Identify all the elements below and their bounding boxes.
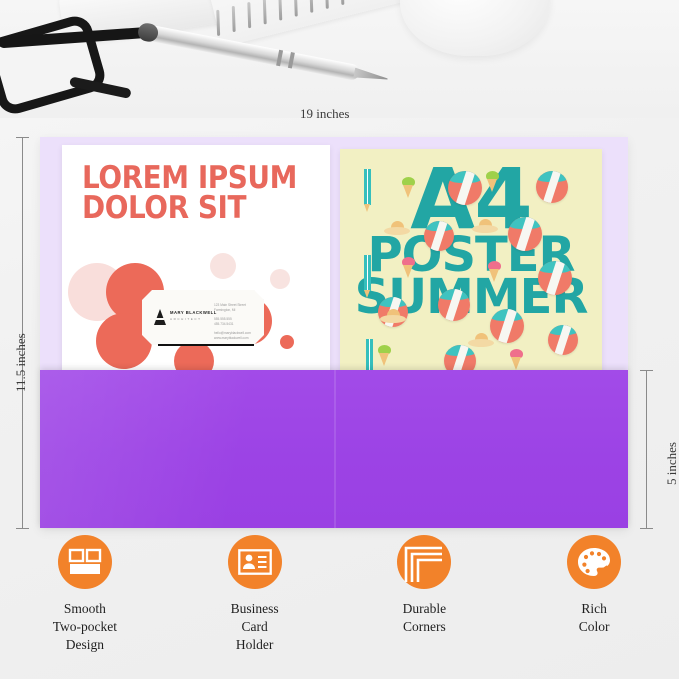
beach-ball-decor — [548, 325, 578, 355]
id-card-glyph — [238, 549, 272, 575]
beach-ball-decor — [490, 309, 524, 343]
spiral-ring — [325, 0, 329, 9]
pencil-decor — [364, 169, 371, 205]
product-image: 19 inches 11.5 inches 5 inches LOREM IPS… — [0, 0, 679, 679]
feature-label-line: Corners — [403, 619, 446, 634]
business-card-shadow-edge — [158, 344, 254, 346]
spiral-ring — [232, 6, 236, 32]
feature-label-line: Color — [579, 619, 610, 634]
pocket-dimension-label: 5 inches — [664, 442, 679, 485]
pocket-dim-cap-bottom — [640, 528, 653, 529]
beach-ball-decor — [424, 221, 454, 251]
folder-pocket — [40, 370, 628, 528]
feature-item-durable-corners: DurableCorners — [340, 535, 510, 679]
eyeglasses-arm-second — [69, 76, 132, 99]
card-website: www.maryblackwell.com — [214, 336, 251, 341]
business-card-icon — [228, 535, 282, 589]
feature-label-line: Rich — [581, 601, 607, 616]
feature-label: SmoothTwo-pocketDesign — [53, 600, 117, 653]
decor-circle — [280, 335, 294, 349]
beach-ball-decor — [438, 289, 470, 321]
beach-ball-decor — [448, 171, 482, 205]
pen-tip — [353, 68, 388, 84]
sun-hat-decor — [468, 333, 494, 346]
sun-hat-decor — [472, 219, 498, 232]
feature-label: BusinessCardHolder — [231, 600, 279, 653]
feature-list: SmoothTwo-pocketDesign BusinessCardHolde… — [0, 535, 679, 679]
durable-corner-icon — [397, 535, 451, 589]
palette-icon — [567, 535, 621, 589]
pencil-decor — [364, 255, 371, 291]
pocket-dim-cap-top — [640, 370, 653, 371]
beach-ball-decor — [508, 217, 542, 251]
lorem-line-2: DOLOR SIT — [82, 190, 246, 226]
spiral-ring — [278, 0, 282, 20]
decor-circle — [210, 253, 236, 279]
paint-palette-glyph — [576, 546, 612, 578]
folder-product: LOREM IPSUM DOLOR SIT A4 POSTER SUMMER — [40, 137, 628, 528]
spiral-ring — [340, 0, 344, 5]
feature-item-two-pocket: SmoothTwo-pocketDesign — [0, 535, 170, 679]
card-name: MARY BLACKWELL — [170, 310, 217, 315]
two-pocket-glyph — [68, 548, 102, 576]
beach-ball-decor — [536, 171, 568, 203]
feature-label-line: Holder — [236, 637, 274, 652]
decor-circle — [270, 269, 290, 289]
white-mouse-object — [400, 0, 550, 56]
beach-ball-decor — [538, 261, 572, 295]
card-role: ARCHITECT — [170, 317, 202, 321]
height-dimension-label: 11.5 inches — [13, 333, 29, 392]
feature-item-business-card: BusinessCardHolder — [170, 535, 340, 679]
two-pocket-icon — [58, 535, 112, 589]
sun-hat-decor — [384, 221, 410, 234]
feature-label-line: Durable — [403, 601, 446, 616]
feature-label-line: Design — [66, 637, 104, 652]
spiral-ring — [216, 10, 220, 36]
architect-logo-icon — [154, 309, 166, 325]
width-dimension-label: 19 inches — [300, 106, 349, 122]
business-card: MARY BLACKWELL ARCHITECT 123 Main Street… — [142, 290, 264, 345]
spiral-ring — [247, 2, 251, 28]
spiral-ring — [294, 0, 298, 17]
pocket-dimension-line — [646, 370, 647, 528]
sun-hat-decor — [380, 309, 406, 322]
feature-label-line: Business — [231, 601, 279, 616]
corner-layers-glyph — [404, 542, 444, 582]
spiral-ring — [309, 0, 313, 13]
feature-label-line: Two-pocket — [53, 619, 117, 634]
height-dim-cap-bottom — [16, 528, 29, 529]
height-dim-cap-top — [16, 137, 29, 138]
right-inserted-poster: A4 POSTER SUMMER — [340, 149, 602, 377]
eyeglasses-arm — [0, 27, 149, 48]
feature-label-line: Smooth — [64, 601, 106, 616]
card-contact-info: 123 Main Street Street Farmington, MI 55… — [214, 303, 251, 342]
pocket-center-seam — [334, 370, 336, 528]
notebook-spiral-icon — [214, 0, 367, 40]
feature-label: DurableCorners — [403, 600, 446, 636]
spiral-ring — [263, 0, 267, 24]
feature-label: RichColor — [579, 600, 610, 636]
lorem-heading: LOREM IPSUM DOLOR SIT — [82, 163, 298, 224]
desk-surface-top — [0, 0, 679, 118]
feature-label-line: Card — [241, 619, 267, 634]
feature-item-rich-color: RichColor — [509, 535, 679, 679]
